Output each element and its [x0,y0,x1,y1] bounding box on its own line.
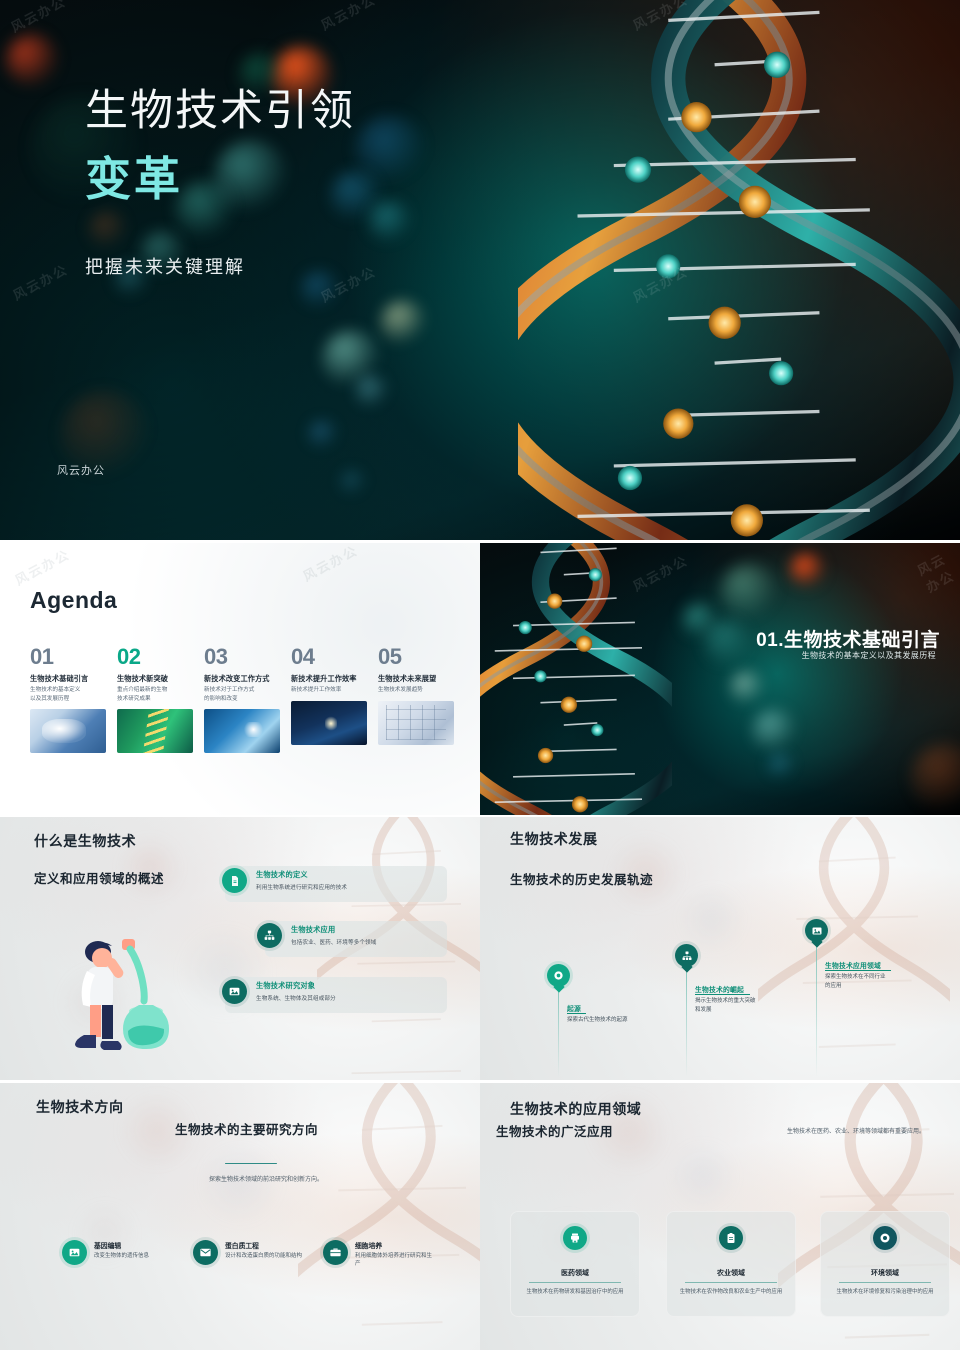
direction-title: 蛋白质工程 [225,1240,302,1250]
timeline-stem [558,989,559,1077]
agenda-thumbnail-02 [117,709,193,753]
list-item-title: 生物技术的定义 [256,870,347,880]
slide-title: 什么是生物技术 [34,831,136,851]
agenda-item-name: 生物技术未来展望 [378,674,454,684]
direction-desc: 设计和改造蛋白质的功能和结构 [225,1252,302,1261]
divider [225,1163,277,1165]
image-icon [222,979,247,1004]
image-icon [62,1240,87,1265]
slide-title: 生物技术发展 [510,829,598,849]
title-tagline: 把握未来关键理解 [85,253,245,279]
application-card-2[interactable]: 农业领域 生物技术在农作物改良和农业生产中的应用 [666,1211,796,1317]
direction-item-1[interactable]: 基因编辑 改变生物体的遗传信息 [62,1240,182,1265]
slide-biotech-directions[interactable]: 生物技术方向 生物技术的主要研究方向 探索生物技术领域的前沿研究和创新方向。 基… [0,1083,480,1350]
direction-desc: 利用细胞体外培养进行研究和生产 [355,1252,437,1269]
direction-item-3[interactable]: 细胞培养 利用细胞体外培养进行研究和生产 [323,1240,437,1269]
clipboard-icon [719,1226,743,1250]
list-item-title: 生物技术研究对象 [256,981,336,991]
timeline-pin-2[interactable] [675,944,698,967]
agenda-title: Agenda [30,587,117,614]
direction-title: 基因编辑 [94,1240,149,1250]
dna-helix-illustration [518,0,960,540]
list-item-desc: 包括农业、医药、环境等多个领域 [291,938,376,946]
list-item-1[interactable]: 生物技术的定义 利用生物系统进行研究和应用的技术 [222,868,347,893]
bokeh-dot [790,553,824,587]
slide-title: 生物技术方向 [36,1097,124,1117]
agenda-item-02[interactable]: 02 生物技术新突破 重点介绍最新的生物 技术研究成果 [117,646,193,754]
agenda-item-name: 生物技术基础引言 [30,674,106,684]
agenda-thumbnail-01 [30,709,106,753]
slide-subtitle: 定义和应用领域的概述 [34,868,164,887]
agenda-number: 03 [204,646,280,668]
card-divider [839,1282,931,1283]
bokeh-dot [175,180,235,240]
card-desc: 生物技术在环境修复和污染治理中的应用 [831,1288,939,1297]
agenda-number: 02 [117,646,193,668]
dna-watermark-illustration [758,817,950,1080]
card-title: 环境领域 [821,1268,949,1278]
slide-subtitle: 生物技术的主要研究方向 [175,1119,318,1138]
card-divider [529,1282,621,1283]
card-divider [685,1282,777,1283]
medical-icon [563,1226,587,1250]
slide-title[interactable]: 风云办公 风云办公 风云办公 风云办公 风云办公 风云办公 生物技术引领 变革 … [0,0,960,540]
list-item-3[interactable]: 生物技术研究对象 生物系统、生物体及其组或部分 [222,979,336,1004]
slide-biotech-development[interactable]: 生物技术发展 生物技术的历史发展轨迹 起源 探索古代生物技术的起源 生物技术的崛… [480,817,960,1080]
timeline-desc-1: 探索古代生物技术的起源 [567,1016,633,1025]
bokeh-dot [340,470,366,496]
dna-helix-illustration [480,543,672,815]
card-title: 农业领域 [667,1268,795,1278]
list-item-2[interactable]: 生物技术应用 包括农业、医药、环境等多个领域 [257,923,376,948]
mail-icon [193,1240,218,1265]
briefcase-icon [323,1240,348,1265]
agenda-item-name: 新技术改变工作方式 [204,674,280,684]
agenda-item-desc: 新技术提升工作效率 [291,686,367,694]
timeline-pin-3[interactable] [805,919,828,942]
list-item-desc: 生物系统、生物体及其组或部分 [256,994,336,1002]
slide-subtitle: 生物技术的历史发展轨迹 [510,869,653,888]
direction-desc: 改变生物体的遗传信息 [94,1252,149,1261]
target-icon [873,1226,897,1250]
slide-agenda[interactable]: 风云办公 风云办公 Agenda 01 生物技术基础引言 生物技术的基本定义 以… [0,543,480,815]
agenda-thumbnail-03 [204,709,280,753]
card-desc: 生物技术在药物研发和基因治疗中的应用 [521,1288,629,1297]
agenda-item-name: 新技术提升工作效率 [291,674,367,684]
title-line-1: 生物技术引领 [85,86,355,137]
timeline-title-2: 生物技术的崛起 [695,984,744,994]
agenda-item-03[interactable]: 03 新技术改变工作方式 新技术对于工作方式 的影响和改变 [204,646,280,754]
slide-note: 生物技术在医药、农业、环境等领域都有重要应用。 [785,1128,925,1138]
agenda-item-name: 生物技术新突破 [117,674,193,684]
agenda-thumbnail-05 [378,701,454,745]
agenda-item-01[interactable]: 01 生物技术基础引言 生物技术的基本定义 以及其发展历程 [30,646,106,754]
bokeh-dot [720,563,778,621]
bokeh-dot [6,34,58,86]
bokeh-dot [704,619,752,667]
agenda-item-desc: 新技术对于工作方式 的影响和改变 [204,686,280,703]
chemist-illustration [40,905,198,1055]
agenda-items: 01 生物技术基础引言 生物技术的基本定义 以及其发展历程 02 生物技术新突破… [30,646,462,754]
timeline-desc-3: 探索生物技术在不同行业的应用 [825,973,889,990]
card-title: 医药领域 [511,1268,639,1278]
timeline-pin-1[interactable] [547,964,570,987]
card-desc: 生物技术在农作物改良和农业生产中的应用 [677,1288,785,1297]
slide-title: 生物技术的应用领域 [510,1099,641,1119]
bokeh-dot [300,270,340,310]
section-title: 01.生物技术基础引言 [756,625,940,652]
application-card-1[interactable]: 医药领域 生物技术在药物研发和基因治疗中的应用 [510,1211,640,1317]
direction-title: 细胞培养 [355,1240,437,1250]
bokeh-dot [355,375,389,409]
bokeh-dot [752,709,796,753]
bokeh-dot [380,300,426,346]
agenda-item-desc: 重点介绍最新的生物 技术研究成果 [117,686,193,703]
slide-subtitle: 生物技术的广泛应用 [496,1121,613,1140]
dna-watermark-illustration [298,1083,480,1350]
bokeh-dot [670,1143,736,1209]
timeline-underline [825,970,891,971]
bokeh-dot [768,753,794,779]
list-item-desc: 利用生物系统进行研究和应用的技术 [256,883,347,891]
agenda-item-desc: 生物技术发展趋势 [378,686,454,694]
slide-note: 探索生物技术领域的前沿研究和创新方向。 [186,1176,346,1186]
image-icon [811,925,823,937]
agenda-thumbnail-04 [291,701,367,745]
agenda-number: 05 [378,646,454,668]
timeline-underline [567,1013,586,1014]
direction-item-2[interactable]: 蛋白质工程 设计和改造蛋白质的功能和结构 [193,1240,305,1265]
agenda-number: 01 [30,646,106,668]
application-card-3[interactable]: 环境领域 生物技术在环境修复和污染治理中的应用 [820,1211,950,1317]
document-icon [222,868,247,893]
timeline-underline [695,994,750,995]
timeline-title-3: 生物技术应用领域 [825,960,881,970]
network-icon [681,950,693,962]
bokeh-dot [730,671,764,705]
target-icon [553,970,564,981]
network-icon [257,923,282,948]
agenda-item-04[interactable]: 04 新技术提升工作效率 新技术提升工作效率 [291,646,367,754]
title-footer: 风云办公 [57,462,105,478]
section-subtitle: 生物技术的基本定义以及其发展历程 [802,650,936,661]
bokeh-dot [368,200,412,244]
slide-deck: 风云办公 风云办公 风云办公 风云办公 风云办公 风云办公 生物技术引领 变革 … [0,0,960,1352]
agenda-item-desc: 生物技术的基本定义 以及其发展历程 [30,686,106,703]
timeline-desc-2: 揭示生物技术的重大突破和发展 [695,997,759,1014]
agenda-item-05[interactable]: 05 生物技术未来展望 生物技术发展趋势 [378,646,454,754]
bokeh-dot [88,210,128,250]
bokeh-dot [680,887,744,951]
slide-application-fields[interactable]: 生物技术的应用领域 生物技术的广泛应用 生物技术在医药、农业、环境等领域都有重要… [480,1083,960,1350]
list-item-title: 生物技术应用 [291,925,376,935]
title-line-2: 变革 [85,152,183,206]
timeline-stem [686,969,687,1077]
agenda-number: 04 [291,646,367,668]
timeline-title-1: 起源 [567,1003,581,1013]
timeline-stem [816,944,817,1077]
slide-what-is-biotech[interactable]: 什么是生物技术 定义和应用领域的概述 生物 [0,817,480,1080]
bokeh-dot [308,420,338,450]
slide-section-header[interactable]: 风云办公 风云办公 01.生物技术基础引言 生物技术的基本定义以及其发展历程 [480,543,960,815]
